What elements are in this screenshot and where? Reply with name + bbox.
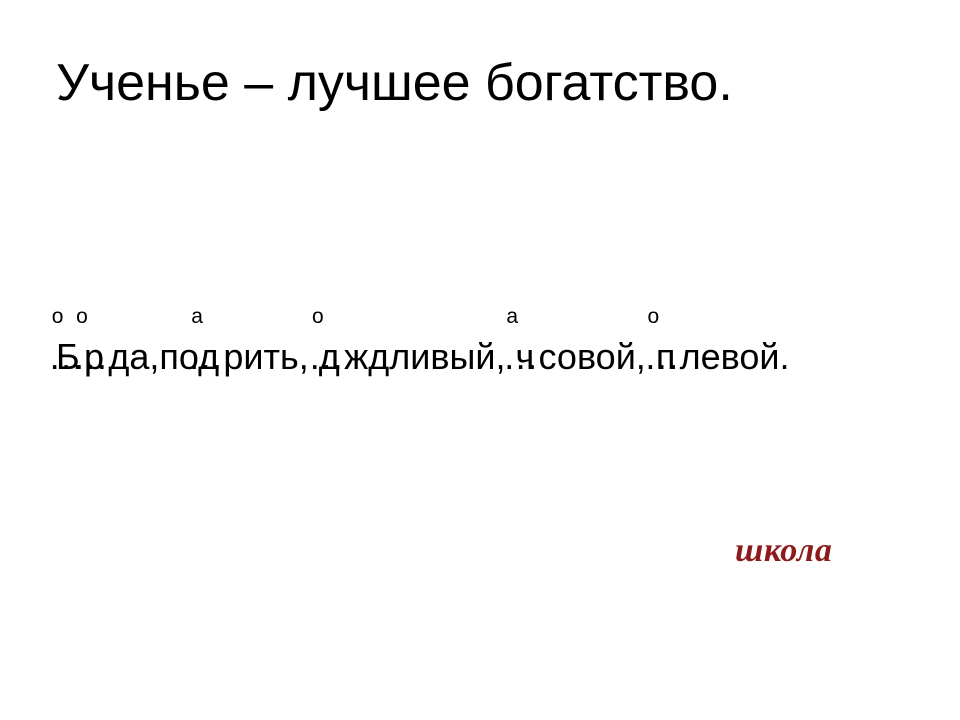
blank-dots: ... <box>74 336 108 377</box>
exercise-text: Бо...ро...да,пода...рить, до...ждливый, … <box>56 330 926 384</box>
exercise-blank: о... <box>675 330 679 384</box>
slide-title: Ученье – лучшее богатство. <box>56 54 926 112</box>
slide-canvas: Ученье – лучшее богатство. Бо...ро...да,… <box>0 0 960 720</box>
blank-dots: ... <box>504 336 538 377</box>
exercise-text-run: левой. <box>680 336 790 377</box>
exercise-blank: о... <box>340 330 344 384</box>
blank-dots: ... <box>645 336 679 377</box>
exercise-blank: а... <box>534 330 538 384</box>
signature-word: школа <box>735 534 832 568</box>
exercise-blank: а... <box>219 330 223 384</box>
blank-dots: ... <box>310 336 344 377</box>
exercise-blank: о... <box>104 330 108 384</box>
blank-dots: ... <box>189 336 223 377</box>
